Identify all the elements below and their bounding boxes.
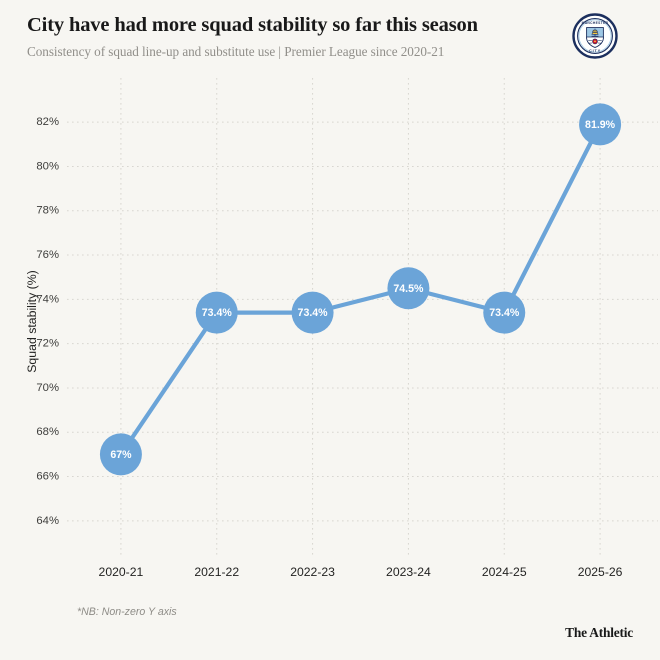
y-axis-tick-label: 66% xyxy=(36,471,59,483)
y-axis-tick-label: 76% xyxy=(36,249,59,261)
data-point-label: 67% xyxy=(110,449,132,461)
y-axis-tick-label: 68% xyxy=(36,426,59,438)
y-axis-tick-label: 82% xyxy=(36,116,59,128)
x-axis-tick-label: 2024-25 xyxy=(482,565,527,579)
y-axis-tick-label: 70% xyxy=(36,382,59,394)
chart-footnote: *NB: Non-zero Y axis xyxy=(77,606,177,618)
data-point-markers: 67%73.4%73.4%74.5%73.4%81.9% xyxy=(100,103,621,475)
data-line-squad-stability xyxy=(121,124,600,454)
x-axis-tick-label: 2023-24 xyxy=(386,565,431,579)
y-axis-tick-label: 80% xyxy=(36,160,59,172)
brand-logo-the-athletic: The Athletic xyxy=(565,625,633,641)
vertical-gridlines xyxy=(121,78,600,555)
y-axis-tick-label: 72% xyxy=(36,338,59,350)
x-axis-tick-labels: 2020-212021-222022-232023-242024-252025-… xyxy=(99,565,623,579)
x-axis-tick-label: 2021-22 xyxy=(194,565,239,579)
chart-page: City have had more squad stability so fa… xyxy=(0,0,660,660)
y-axis-title: Squad stability (%) xyxy=(25,270,39,373)
data-point-label: 74.5% xyxy=(393,283,424,295)
data-point-label: 81.9% xyxy=(585,119,616,131)
data-point-label: 73.4% xyxy=(202,307,233,319)
y-axis-tick-labels: 64%66%68%70%72%74%76%78%80%82% xyxy=(36,116,59,527)
y-axis-tick-label: 78% xyxy=(36,205,59,217)
data-point-label: 73.4% xyxy=(489,307,520,319)
chart-plot-area: 64%66%68%70%72%74%76%78%80%82% 2020-2120… xyxy=(0,0,660,660)
x-axis-tick-label: 2020-21 xyxy=(99,565,144,579)
y-axis-tick-label: 74% xyxy=(36,293,59,305)
x-axis-tick-label: 2025-26 xyxy=(578,565,623,579)
y-axis-tick-label: 64% xyxy=(36,515,59,527)
data-point-label: 73.4% xyxy=(298,307,329,319)
x-axis-tick-label: 2022-23 xyxy=(290,565,335,579)
